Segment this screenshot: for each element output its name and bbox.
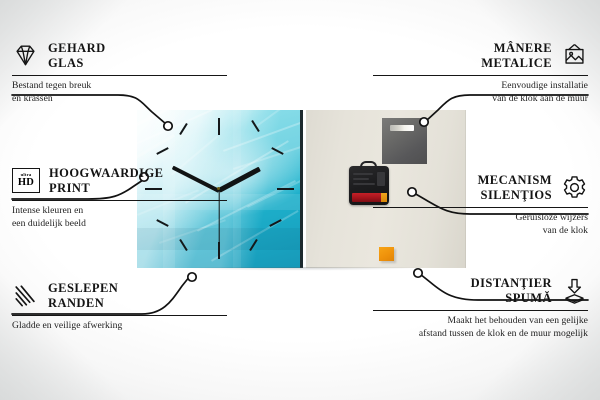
callout-hd-print: ultra HD HOOGWAARDIGEPRINT Intense kleur… [12, 166, 227, 231]
callout-title: MECANISMSILENŢIOS [478, 173, 552, 203]
callout-metal-handles: MÂNEREMETALICE Eenvoudige installatievan… [373, 41, 588, 106]
callout-header: MÂNEREMETALICE [373, 41, 588, 71]
callout-subtitle: Intense kleuren eneen duidelijk beeld [12, 205, 227, 231]
clock-tick [269, 219, 281, 227]
product-shadow [133, 267, 470, 276]
callout-title: DISTANŢIERSPUMĂ [471, 276, 552, 306]
hanger-slot [390, 125, 414, 131]
callout-title: GESLEPENRANDEN [48, 281, 118, 311]
callout-header: DISTANŢIERSPUMĂ [373, 276, 588, 306]
ultra-hd-icon: ultra HD [12, 168, 40, 193]
callout-subtitle: Geruisloze wijzersvan de klok [373, 212, 588, 238]
callout-rule [12, 315, 227, 317]
movement-hang-loop [360, 161, 377, 170]
diagonal-lines-icon [12, 282, 39, 309]
callout-subtitle: Gladde en veilige afwerking [12, 320, 227, 333]
callout-polished-edges: GESLEPENRANDEN Gladde en veilige afwerki… [12, 281, 227, 333]
callout-header: MECANISMSILENŢIOS [373, 173, 588, 203]
foam-spacer-pad [379, 247, 394, 261]
callout-title: HOOGWAARDIGEPRINT [49, 166, 163, 196]
picture-frame-icon [561, 42, 588, 69]
ultra-hd-icon-main-label: HD [18, 178, 34, 189]
gear-icon [561, 174, 588, 201]
callout-header: GESLEPENRANDEN [12, 281, 227, 311]
callout-subtitle: Maakt het behouden van een gelijkeafstan… [373, 315, 588, 341]
callout-rule [12, 75, 227, 77]
callout-title: MÂNEREMETALICE [481, 41, 552, 71]
callout-subtitle: Bestand tegen breuken krassen [12, 80, 227, 106]
metal-hanger-plate [382, 118, 427, 164]
diamond-icon [12, 42, 39, 69]
callout-rule [373, 207, 588, 209]
callout-header: GEHARDGLAS [12, 41, 227, 71]
infographic-canvas: GEHARDGLAS Bestand tegen breuken krassen… [0, 0, 600, 400]
down-arrow-layer-icon [561, 277, 588, 304]
clock-tick [218, 118, 220, 135]
callout-rule [373, 310, 588, 312]
callout-tempered-glass: GEHARDGLAS Bestand tegen breuken krassen [12, 41, 227, 106]
callout-subtitle: Eenvoudige installatievan de klok aan de… [373, 80, 588, 106]
clock-tick [277, 188, 294, 190]
callout-title: GEHARDGLAS [48, 41, 106, 71]
callout-silent-mechanism: MECANISMSILENŢIOS Geruisloze wijzersvan … [373, 173, 588, 238]
clock-tick [218, 242, 220, 259]
callout-header: ultra HD HOOGWAARDIGEPRINT [12, 166, 227, 196]
callout-rule [12, 200, 227, 202]
callout-rule [373, 75, 588, 77]
callout-foam-spacer: DISTANŢIERSPUMĂ Maakt het behouden van e… [373, 276, 588, 341]
